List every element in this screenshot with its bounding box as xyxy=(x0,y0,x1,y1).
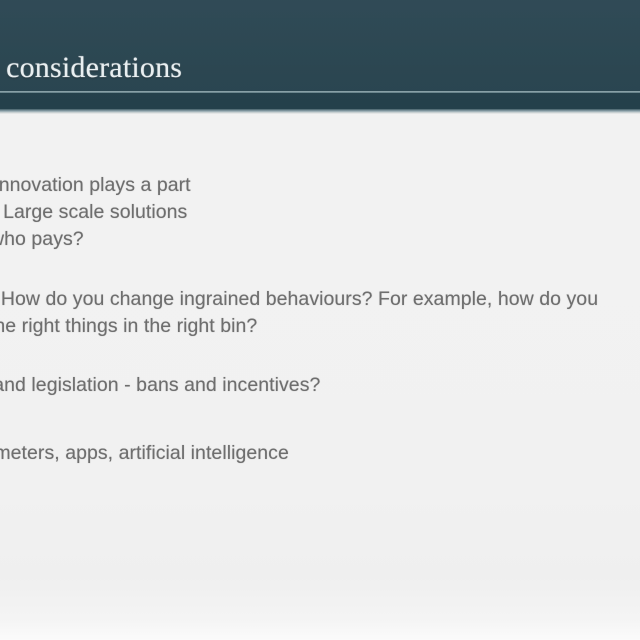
slide-text-block: g meters, apps, artificial intelligence xyxy=(0,440,289,467)
slide-text-line: d innovation plays a part xyxy=(0,172,191,199)
slide-text-line: g meters, apps, artificial intelligence xyxy=(0,440,289,467)
slide-text-line: y and legislation - bans and incentives? xyxy=(0,372,320,399)
slide-text-line: - who pays? xyxy=(0,226,191,253)
slide-text-line: vs Large scale solutions xyxy=(0,199,191,226)
slide-text-line: r? How do you change ingrained behaviour… xyxy=(0,286,598,313)
slide-header-band: austive considerations xyxy=(0,0,640,114)
slide-body: d innovation plays a part vs Large scale… xyxy=(0,114,640,640)
presentation-slide-frame: austive considerations d innovation play… xyxy=(0,0,640,640)
slide-title: austive considerations xyxy=(0,51,182,85)
slide-text-block: y and legislation - bans and incentives? xyxy=(0,372,320,399)
slide-text-block: d innovation plays a part vs Large scale… xyxy=(0,172,191,253)
slide-text-line: t the right things in the right bin? xyxy=(0,313,598,340)
slide-text-block: r? How do you change ingrained behaviour… xyxy=(0,286,598,340)
